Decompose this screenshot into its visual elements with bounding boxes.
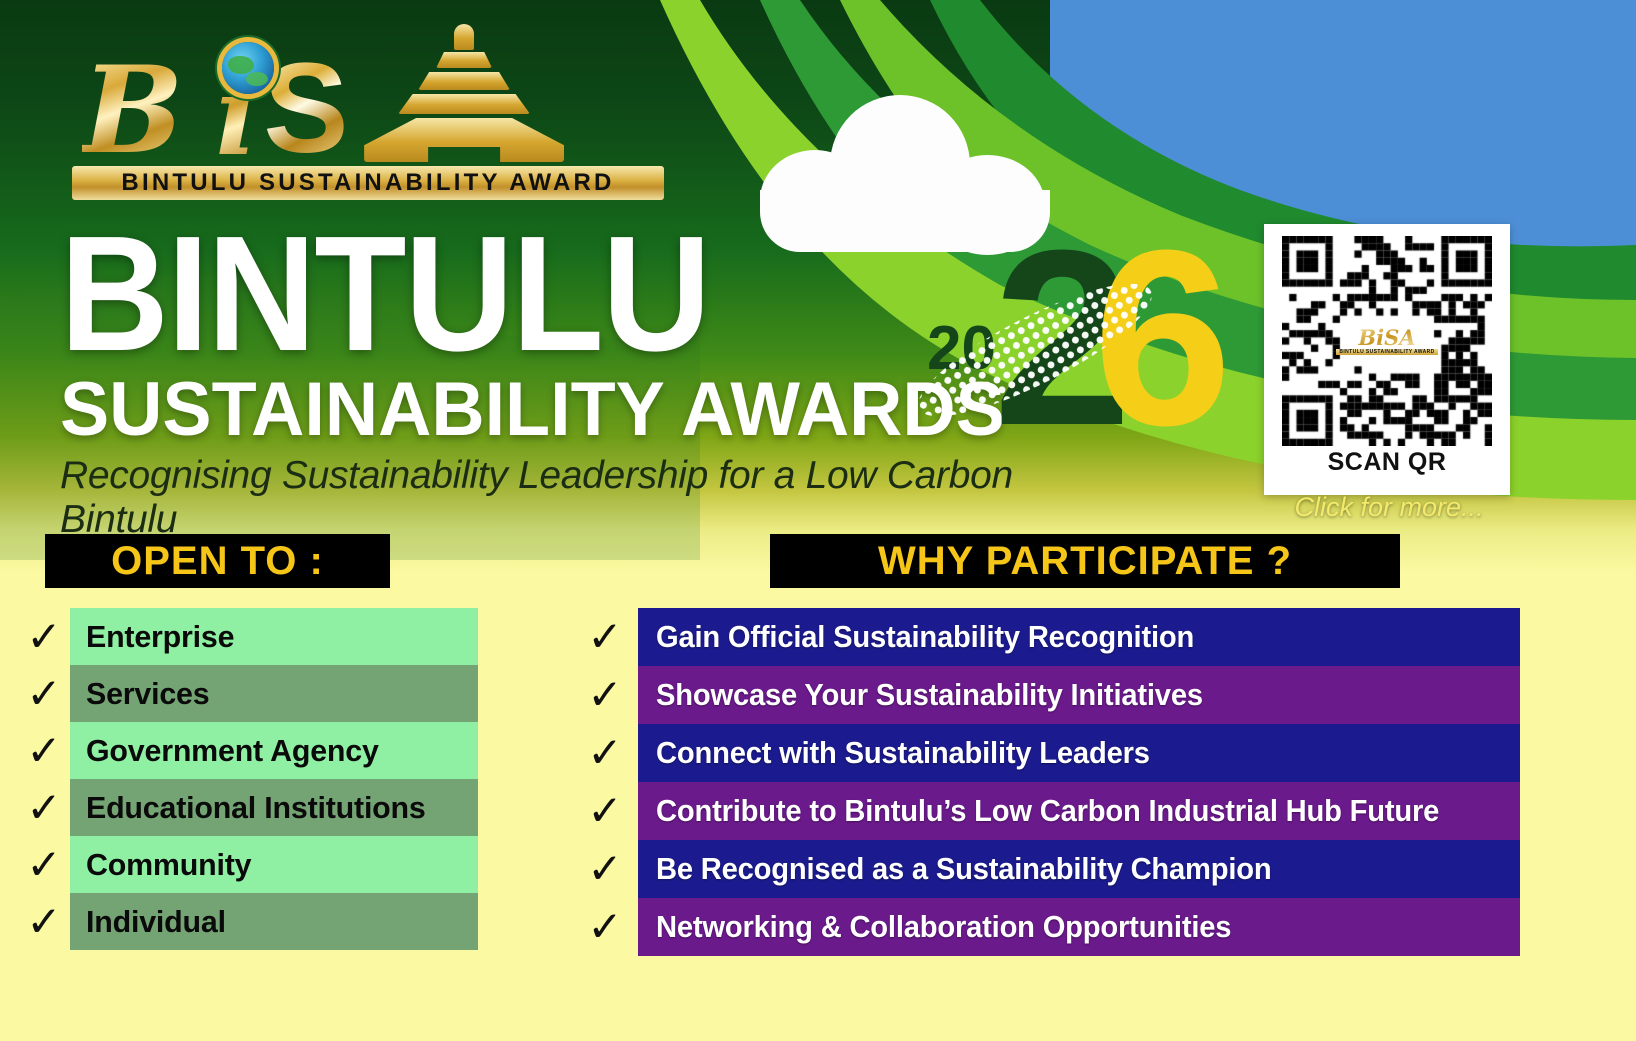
why-participate-row-bar: Gain Official Sustainability Recognition	[638, 608, 1520, 666]
qr-inner-logo-bar: BINTULU SUSTAINABILITY AWARD	[1336, 349, 1437, 355]
check-icon: ✓	[18, 665, 70, 722]
scan-qr-label: SCAN QR	[1328, 448, 1447, 477]
list-item: ✓Individual	[18, 893, 478, 950]
check-icon: ✓	[18, 893, 70, 950]
open-to-label: Enterprise	[86, 619, 234, 655]
why-participate-heading-banner: WHY PARTICIPATE ?	[770, 534, 1400, 588]
logo-letter-b: B	[82, 60, 177, 162]
title-bintulu: BINTULU	[60, 222, 989, 366]
list-item: ✓Government Agency	[18, 722, 478, 779]
qr-inner-logo-text: BiSA	[1358, 327, 1415, 348]
open-to-label: Community	[86, 847, 251, 883]
open-to-label: Educational Institutions	[86, 790, 426, 826]
open-to-label: Services	[86, 676, 209, 712]
check-icon: ✓	[18, 608, 70, 665]
list-item: ✓Services	[18, 665, 478, 722]
title-sustainability-awards: SUSTAINABILITY AWARDS	[60, 372, 1040, 448]
why-participate-row-bar: Be Recognised as a Sustainability Champi…	[638, 840, 1520, 898]
why-participate-label: Networking & Collaboration Opportunities	[656, 909, 1231, 945]
list-item: ✓Showcase Your Sustainability Initiative…	[572, 666, 1520, 724]
list-item: ✓Enterprise	[18, 608, 478, 665]
click-for-more-link[interactable]: Click for more...	[1264, 492, 1514, 523]
list-item: ✓Connect with Sustainability Leaders	[572, 724, 1520, 782]
open-to-row-bar: Individual	[70, 893, 478, 950]
globe-icon	[222, 42, 274, 94]
open-to-row-bar: Government Agency	[70, 722, 478, 779]
why-participate-row-bar: Contribute to Bintulu’s Low Carbon Indus…	[638, 782, 1520, 840]
year-2026: 2 6 20	[915, 240, 1215, 490]
open-to-label: Individual	[86, 904, 226, 940]
qr-card[interactable]: BiSA BINTULU SUSTAINABILITY AWARD SCAN Q…	[1264, 224, 1510, 495]
check-icon: ✓	[572, 608, 638, 666]
bisa-logo-mark: B i S	[72, 22, 672, 162]
list-item: ✓Networking & Collaboration Opportunitie…	[572, 898, 1520, 956]
check-icon: ✓	[572, 782, 638, 840]
why-participate-label: Contribute to Bintulu’s Low Carbon Indus…	[656, 793, 1439, 829]
why-participate-row-bar: Connect with Sustainability Leaders	[638, 724, 1520, 782]
bisa-logo: B i S BINTULU SUSTAINABILITY AWARD	[72, 22, 672, 212]
logo-letter-s: S	[263, 57, 348, 162]
list-item: ✓Community	[18, 836, 478, 893]
why-participate-row-bar: Networking & Collaboration Opportunities	[638, 898, 1520, 956]
why-participate-row-bar: Showcase Your Sustainability Initiatives	[638, 666, 1520, 724]
open-to-heading-banner: OPEN TO :	[45, 534, 390, 588]
check-icon: ✓	[18, 779, 70, 836]
list-item: ✓Educational Institutions	[18, 779, 478, 836]
check-icon: ✓	[18, 722, 70, 779]
why-participate-list: ✓Gain Official Sustainability Recognitio…	[572, 608, 1520, 956]
list-item: ✓Be Recognised as a Sustainability Champ…	[572, 840, 1520, 898]
check-icon: ✓	[572, 666, 638, 724]
why-participate-label: Showcase Your Sustainability Initiatives	[656, 677, 1203, 713]
logo-banner-text: BINTULU SUSTAINABILITY AWARD	[121, 169, 614, 197]
list-item: ✓Gain Official Sustainability Recognitio…	[572, 608, 1520, 666]
check-icon: ✓	[572, 724, 638, 782]
check-icon: ✓	[18, 836, 70, 893]
why-participate-label: Gain Official Sustainability Recognition	[656, 619, 1194, 655]
check-icon: ✓	[572, 898, 638, 956]
open-to-row-bar: Educational Institutions	[70, 779, 478, 836]
check-icon: ✓	[572, 840, 638, 898]
why-participate-label: Be Recognised as a Sustainability Champi…	[656, 851, 1272, 887]
open-to-row-bar: Enterprise	[70, 608, 478, 665]
open-to-row-bar: Community	[70, 836, 478, 893]
why-participate-label: Connect with Sustainability Leaders	[656, 735, 1150, 771]
why-participate-heading-text: WHY PARTICIPATE ?	[878, 539, 1292, 584]
poster-canvas: B i S BINTULU SUSTAINABILITY AWARD BINTU…	[0, 0, 1636, 1041]
qr-inner-logo: BiSA BINTULU SUSTAINABILITY AWARD	[1344, 324, 1430, 358]
open-to-heading-text: OPEN TO :	[111, 539, 324, 584]
qr-code[interactable]: BiSA BINTULU SUSTAINABILITY AWARD	[1282, 236, 1492, 446]
list-item: ✓Contribute to Bintulu’s Low Carbon Indu…	[572, 782, 1520, 840]
pagoda-tower-icon	[357, 22, 572, 162]
open-to-label: Government Agency	[86, 733, 379, 769]
open-to-row-bar: Services	[70, 665, 478, 722]
open-to-list: ✓Enterprise✓Services✓Government Agency✓E…	[18, 608, 478, 950]
